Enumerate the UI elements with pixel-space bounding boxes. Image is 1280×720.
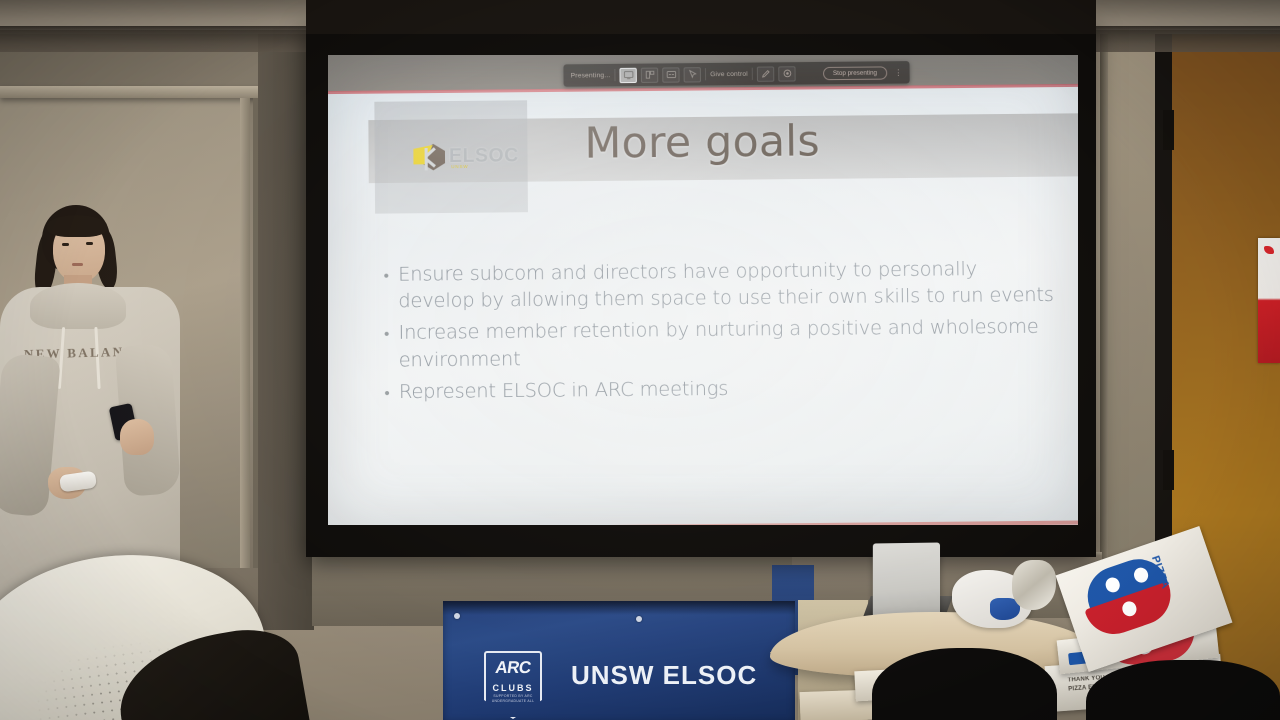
toolbar-divider-3 — [752, 68, 753, 80]
surface-tablet[interactable] — [873, 542, 940, 621]
toolbar-divider — [614, 69, 615, 81]
presenting-status-label: Presenting... — [571, 72, 611, 79]
toolbar-divider-2 — [705, 68, 706, 80]
elsoc-logo-mark-icon — [413, 142, 446, 173]
more-options-icon[interactable]: ⋮ — [891, 68, 902, 77]
unsw-elsoc-banner: ARC CLUBS SUPPORTED BY ARC UNDERGRADUATE… — [443, 601, 795, 720]
captions-icon[interactable] — [662, 67, 679, 82]
poster-graphic-icon — [1264, 246, 1274, 254]
arc-logo-text: ARC — [486, 658, 541, 678]
screen-share-icon[interactable] — [620, 67, 637, 82]
presenter-fringe — [47, 215, 107, 237]
bullet-text: Increase member retention by nurturing a… — [398, 314, 1057, 374]
arc-tagline: SUPPORTED BY ARC UNDERGRADUATE ALL — [483, 694, 543, 704]
slide-bullet-list: • Ensure subcom and directors have oppor… — [384, 255, 1059, 411]
laser-icon[interactable] — [778, 66, 795, 81]
bullet-text: Represent ELSOC in ARC meetings — [399, 375, 728, 405]
list-item: • Increase member retention by nurturing… — [384, 314, 1058, 374]
banner-grommet-2 — [636, 616, 642, 622]
banner-grommet — [454, 613, 460, 619]
elsoc-logo: ELSOC UNSW — [413, 139, 525, 175]
wall-molding-vertical — [240, 98, 250, 568]
pen-icon[interactable] — [757, 66, 774, 81]
projector-screen-housing — [306, 0, 1096, 34]
door-hinge-upper — [1163, 110, 1174, 150]
bullet-marker-icon: • — [384, 379, 390, 402]
arc-clubs-label: CLUBS — [483, 683, 543, 693]
door-poster — [1258, 238, 1280, 363]
bullet-marker-icon: • — [384, 320, 390, 343]
layout-icon[interactable] — [641, 67, 658, 82]
presenter-hood — [30, 283, 126, 329]
list-item: • Represent ELSOC in ARC meetings — [384, 372, 1058, 405]
pointer-icon[interactable] — [684, 67, 701, 82]
meet-present-toolbar[interactable]: Presenting... Give control — [563, 61, 909, 87]
banner-fold-shadow — [443, 601, 795, 615]
door-hinge-lower — [1163, 450, 1174, 490]
banner-title: UNSW ELSOC — [571, 660, 757, 691]
presenter-hand-right — [120, 419, 154, 455]
projector-screen-surface: Presenting... Give control — [328, 55, 1078, 525]
projected-image: Presenting... Give control — [328, 55, 1078, 525]
lecture-room-scene: Presenting... Give control — [0, 0, 1280, 720]
bullet-marker-icon: • — [384, 261, 390, 283]
elsoc-logo-subtext: UNSW — [451, 164, 468, 169]
slide-title: More goals — [584, 116, 820, 168]
bullet-text: Ensure subcom and directors have opportu… — [398, 255, 1057, 315]
give-control-label[interactable]: Give control — [710, 70, 748, 77]
stop-presenting-button[interactable]: Stop presenting — [823, 66, 888, 80]
presenter-mouth — [72, 263, 83, 266]
presenter-eye-left — [62, 243, 69, 246]
list-item: • Ensure subcom and directors have oppor… — [384, 255, 1058, 315]
presenter-eye-right — [86, 242, 93, 245]
slide-content: ELSOC UNSW More goals • Ensure subcom an… — [328, 87, 1078, 525]
